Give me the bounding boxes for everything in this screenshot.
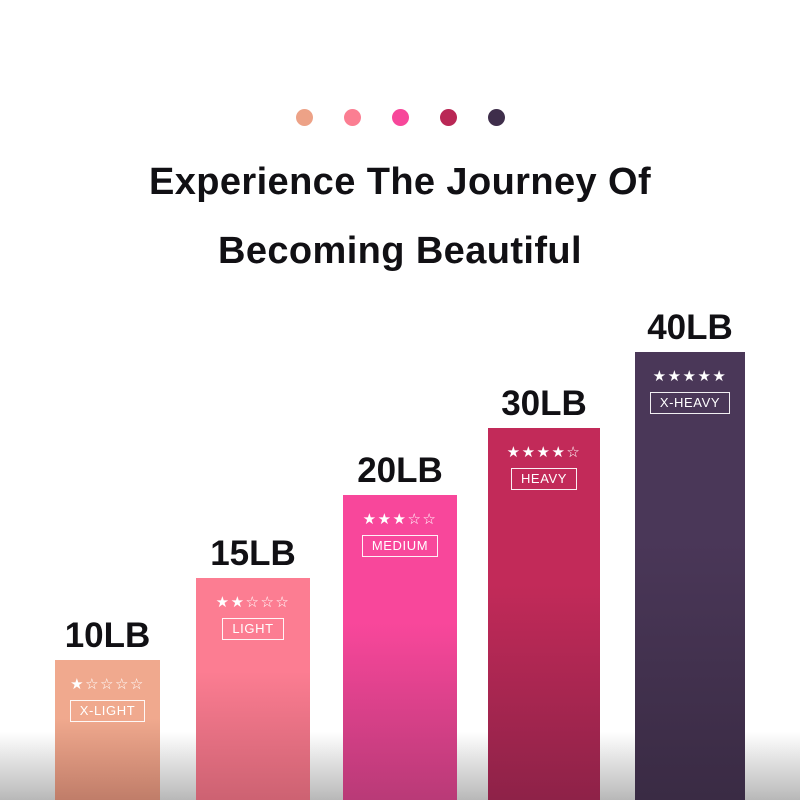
bar-group-10lb[interactable]: 10LB★☆☆☆☆X-LIGHT	[55, 614, 160, 800]
bar-weight-label: 30LB	[488, 385, 600, 423]
bar-group-15lb[interactable]: 15LB★★☆☆☆LIGHT	[196, 532, 310, 800]
bar-weight-label: 10LB	[55, 617, 160, 655]
tier-badge: X-LIGHT	[70, 700, 145, 722]
bar-label-block: ★★★★★X-HEAVY	[635, 368, 745, 414]
bar-group-30lb[interactable]: 30LB★★★★☆HEAVY	[488, 382, 600, 800]
bar-40lb[interactable]: ★★★★★X-HEAVY	[635, 352, 745, 800]
tier-badge: LIGHT	[222, 618, 283, 640]
bar-weight-label: 15LB	[196, 535, 310, 573]
bar-group-20lb[interactable]: 20LB★★★☆☆MEDIUM	[343, 449, 457, 800]
bar-label-block: ★★★☆☆MEDIUM	[343, 511, 457, 557]
bar-10lb[interactable]: ★☆☆☆☆X-LIGHT	[55, 660, 160, 800]
bar-fill	[635, 352, 745, 800]
bar-label-block: ★☆☆☆☆X-LIGHT	[55, 676, 160, 722]
bar-weight-label: 40LB	[635, 309, 745, 347]
bar-15lb[interactable]: ★★☆☆☆LIGHT	[196, 578, 310, 800]
star-rating: ★★☆☆☆	[196, 594, 310, 611]
tier-badge: X-HEAVY	[650, 392, 730, 414]
bar-label-block: ★★★★☆HEAVY	[488, 444, 600, 490]
tier-badge: MEDIUM	[362, 535, 438, 557]
star-rating: ★☆☆☆☆	[55, 676, 160, 693]
star-rating: ★★★★★	[635, 368, 745, 385]
tier-badge: HEAVY	[511, 468, 577, 490]
bar-label-block: ★★☆☆☆LIGHT	[196, 594, 310, 640]
bar-20lb[interactable]: ★★★☆☆MEDIUM	[343, 495, 457, 800]
star-rating: ★★★☆☆	[343, 511, 457, 528]
promo-graphic: Experience The Journey Of Becoming Beaut…	[0, 0, 800, 800]
bar-group-40lb[interactable]: 40LB★★★★★X-HEAVY	[635, 306, 745, 800]
resistance-bar-chart: 10LB★☆☆☆☆X-LIGHT15LB★★☆☆☆LIGHT20LB★★★☆☆M…	[0, 0, 800, 800]
star-rating: ★★★★☆	[488, 444, 600, 461]
bar-30lb[interactable]: ★★★★☆HEAVY	[488, 428, 600, 800]
bar-weight-label: 20LB	[343, 452, 457, 490]
